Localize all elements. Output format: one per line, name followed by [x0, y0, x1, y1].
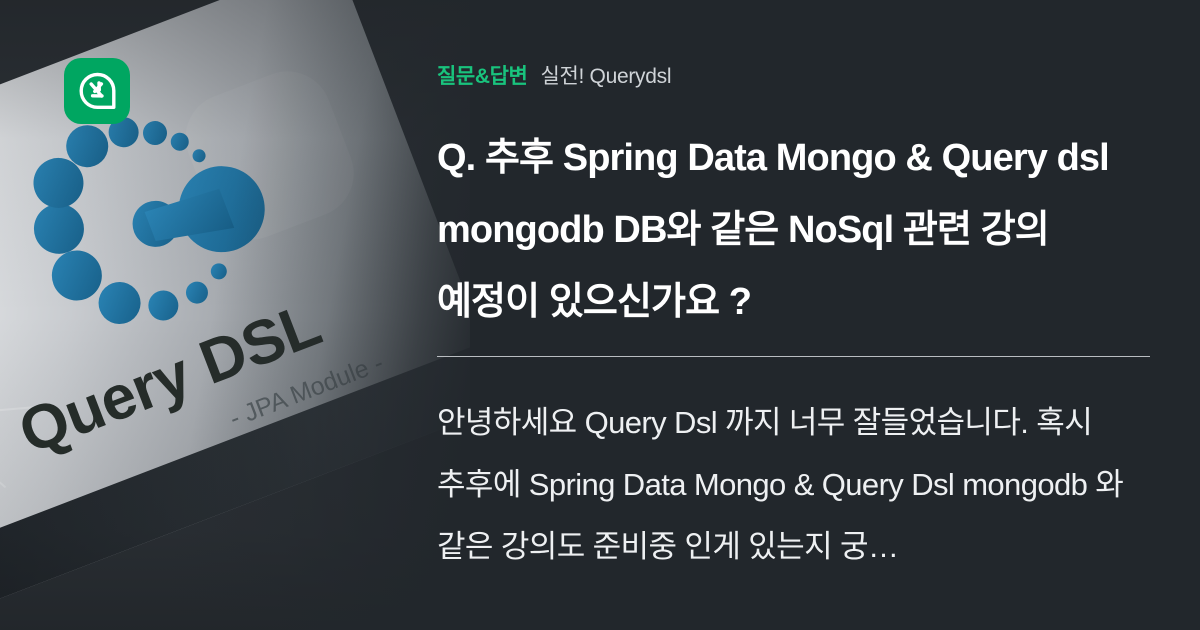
question-body: 안녕하세요 Query Dsl 까지 너무 잘들었습니다. 혹시 추후에 Spr… [437, 392, 1152, 578]
og-card: Query DSL - JPA Module - 질문&답변 실전! Query… [0, 0, 1200, 630]
breadcrumb: 질문&답변 실전! Querydsl [437, 60, 671, 90]
question-title: Q. 추후 Spring Data Mongo & Query dsl mong… [437, 122, 1152, 338]
breadcrumb-course[interactable]: 실전! Querydsl [540, 60, 671, 90]
breadcrumb-tag[interactable]: 질문&답변 [437, 60, 527, 90]
content-divider [437, 356, 1150, 357]
question-content: 질문&답변 실전! Querydsl Q. 추후 Spring Data Mon… [437, 0, 1152, 630]
inflearn-leaf-icon[interactable] [64, 58, 130, 124]
